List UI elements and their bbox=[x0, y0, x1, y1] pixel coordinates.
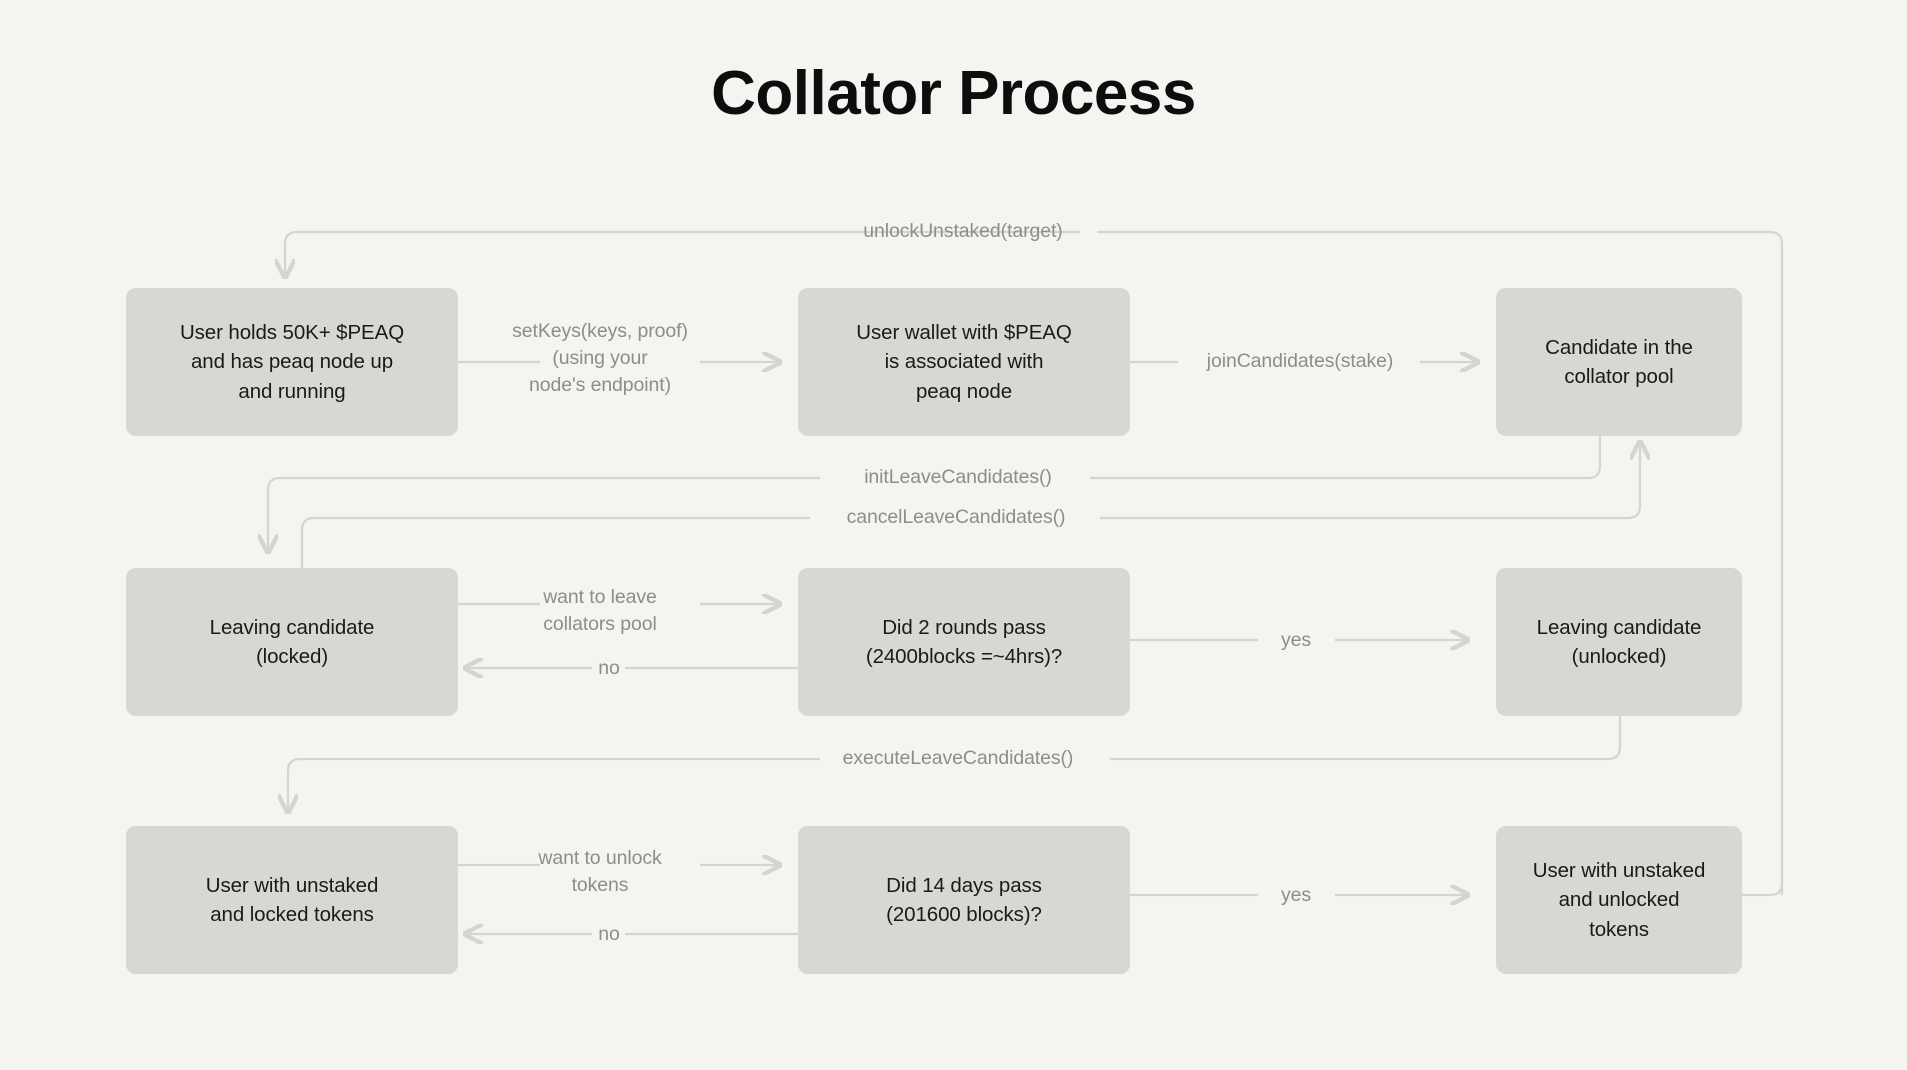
node-unstaked-unlocked[interactable]: User with unstaked and unlocked tokens bbox=[1496, 826, 1742, 974]
node-days-check[interactable]: Did 14 days pass (201600 blocks)? bbox=[798, 826, 1130, 974]
edge-label-set-keys: setKeys(keys, proof) (using your node's … bbox=[500, 318, 700, 399]
diagram-canvas: Collator Process bbox=[0, 0, 1907, 1070]
edge-label-days-no: no bbox=[585, 921, 633, 948]
node-rounds-check[interactable]: Did 2 rounds pass (2400blocks =~4hrs)? bbox=[798, 568, 1130, 716]
node-user-holds[interactable]: User holds 50K+ $PEAQ and has peaq node … bbox=[126, 288, 458, 436]
edge-cancel-leave-left bbox=[302, 518, 810, 570]
node-candidate-pool[interactable]: Candidate in the collator pool bbox=[1496, 288, 1742, 436]
edge-label-want-unlock-tokens: want to unlock tokens bbox=[500, 845, 700, 899]
edge-label-days-yes: yes bbox=[1264, 882, 1328, 909]
node-leaving-unlocked[interactable]: Leaving candidate (unlocked) bbox=[1496, 568, 1742, 716]
edge-init-leave-right bbox=[1090, 432, 1600, 478]
edge-execute-leave-left bbox=[288, 759, 820, 812]
edge-label-want-leave-pool: want to leave collators pool bbox=[500, 584, 700, 638]
edge-label-rounds-yes: yes bbox=[1264, 627, 1328, 654]
edge-label-cancel-leave: cancelLeaveCandidates() bbox=[806, 504, 1106, 531]
node-leaving-locked[interactable]: Leaving candidate (locked) bbox=[126, 568, 458, 716]
node-unstaked-locked[interactable]: User with unstaked and locked tokens bbox=[126, 826, 458, 974]
node-wallet-associated[interactable]: User wallet with $PEAQ is associated wit… bbox=[798, 288, 1130, 436]
edge-label-init-leave: initLeaveCandidates() bbox=[818, 464, 1098, 491]
edge-label-execute-leave: executeLeaveCandidates() bbox=[808, 745, 1108, 772]
page-title: Collator Process bbox=[0, 58, 1907, 129]
edge-unlock-unstaked-tail bbox=[1742, 883, 1782, 895]
edge-cancel-leave-right bbox=[1100, 442, 1640, 518]
edge-label-unlock-unstaked: unlockUnstaked(target) bbox=[828, 218, 1098, 245]
edge-init-leave-left bbox=[268, 478, 820, 552]
edge-label-join-candidates: joinCandidates(stake) bbox=[1170, 348, 1430, 375]
edge-label-rounds-no: no bbox=[585, 655, 633, 682]
